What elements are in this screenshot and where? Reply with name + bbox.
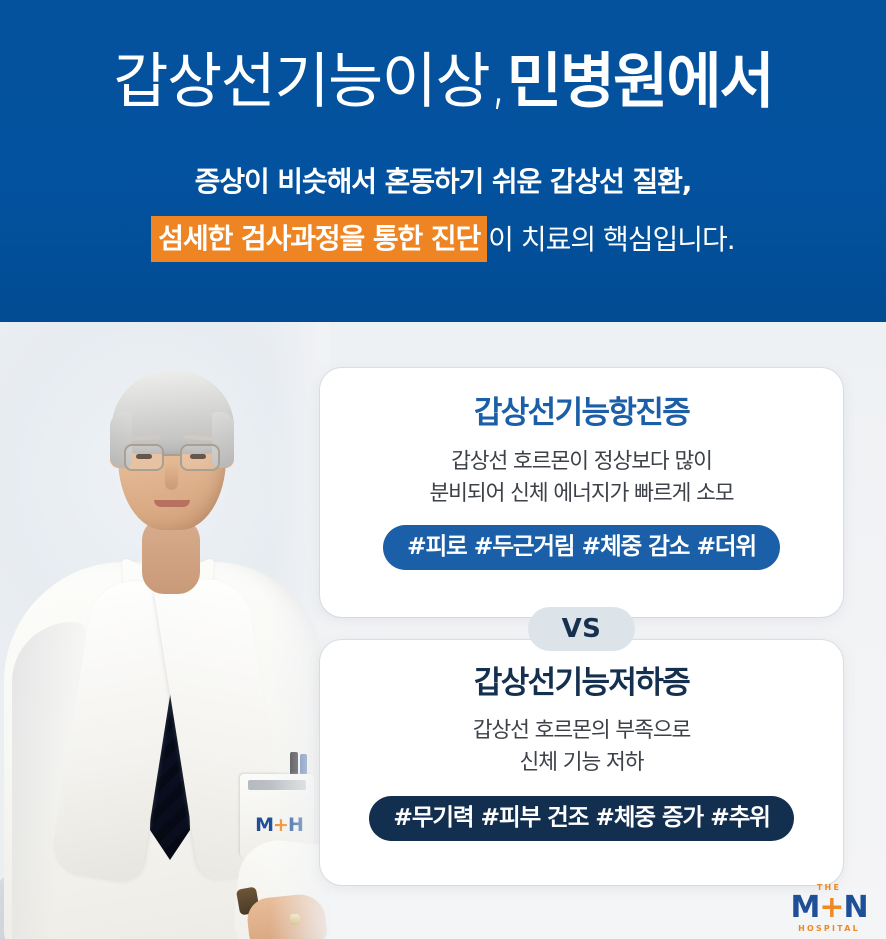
subtitle-line-2: 섬세한 검사과정을 통한 진단이 치료의 핵심입니다. bbox=[0, 216, 886, 262]
headline-bold-part: 민병원에서 bbox=[507, 47, 773, 117]
symptom-tag-hypothyroidism: #무기력 #피부 건조 #체중 증가 #추위 bbox=[369, 796, 794, 841]
mouth-shape bbox=[154, 500, 190, 507]
card-description-line-2: 분비되어 신체 에너지가 빠르게 소모 bbox=[320, 478, 843, 510]
card-title-hyperthyroidism: 갑상선기능항진증 bbox=[320, 368, 843, 429]
page-title: 갑상선기능이상,민병원에서 bbox=[0, 52, 886, 112]
card-tag-row-hyperthyroidism: #피로 #두근거림 #체중 감소 #더위 bbox=[320, 510, 843, 570]
card-tag-row-hypothyroidism: #무기력 #피부 건조 #체중 증가 #추위 bbox=[320, 779, 843, 841]
card-description-hypothyroidism: 갑상선 호르몬의 부족으로 신체 기능 저하 bbox=[320, 699, 843, 779]
glasses-lens-left bbox=[124, 444, 164, 471]
poster-root: 갑상선기능이상,민병원에서 증상이 비슷해서 혼동하기 쉬운 갑상선 질환, 섬… bbox=[0, 0, 886, 939]
card-description-hyperthyroidism: 갑상선 호르몬이 정상보다 많이 분비되어 신체 에너지가 빠르게 소모 bbox=[320, 429, 843, 510]
symptom-tag-hyperthyroidism: #피로 #두근거림 #체중 감소 #더위 bbox=[383, 525, 780, 570]
glasses-bridge bbox=[163, 454, 181, 456]
subtitle-rest: 이 치료의 핵심입니다. bbox=[487, 222, 735, 257]
logo-cross-icon: + bbox=[819, 890, 843, 925]
nose-shape bbox=[165, 464, 178, 490]
logo-wordmark: M+N bbox=[790, 893, 867, 923]
vs-badge: VS bbox=[528, 607, 635, 651]
logo-letter-n: N bbox=[843, 890, 867, 925]
card-description-line-2: 신체 기능 저하 bbox=[320, 747, 843, 779]
card-hypothyroidism: 갑상선기능저하증 갑상선 호르몬의 부족으로 신체 기능 저하 #무기력 #피부… bbox=[320, 640, 843, 885]
doctor-portrait-image: M+H bbox=[0, 322, 330, 939]
header-banner: 갑상선기능이상,민병원에서 증상이 비슷해서 혼동하기 쉬운 갑상선 질환, 섬… bbox=[0, 0, 886, 322]
card-description-line-1: 갑상선 호르몬의 부족으로 bbox=[320, 715, 843, 747]
card-description-line-1: 갑상선 호르몬이 정상보다 많이 bbox=[320, 446, 843, 478]
headline-light-part: 갑상선기능이상, bbox=[113, 47, 506, 117]
subtitle-line-1: 증상이 비슷해서 혼동하기 쉬운 갑상선 질환, bbox=[0, 164, 886, 199]
logo-letter-m: M bbox=[790, 890, 819, 925]
subtitle-highlight: 섬세한 검사과정을 통한 진단 bbox=[151, 216, 487, 262]
card-hyperthyroidism: 갑상선기능항진증 갑상선 호르몬이 정상보다 많이 분비되어 신체 에너지가 빠… bbox=[320, 368, 843, 617]
logo-text-hospital: HOSPITAL bbox=[786, 925, 872, 933]
hospital-logo: THE M+N HOSPITAL bbox=[786, 884, 872, 932]
glasses-lens-right bbox=[180, 444, 220, 471]
